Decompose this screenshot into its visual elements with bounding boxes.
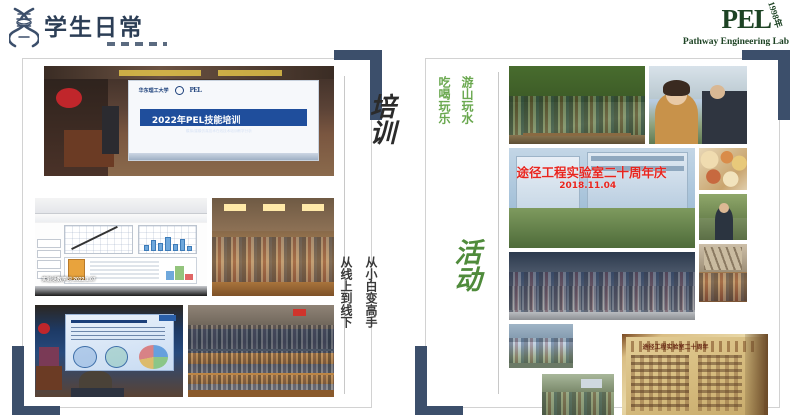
- slide-thumbnail-rail: [37, 239, 61, 279]
- training-column-skill: 从小白变高手: [362, 256, 379, 328]
- anniversary-banner-photo: 途径工程实验室二十周年庆 2018.11.04: [509, 148, 695, 248]
- scatter-chart-thumb: [64, 225, 133, 254]
- slide-pel-logo: PEL: [190, 86, 202, 94]
- title-underline-dash: [107, 42, 167, 46]
- slide-university-logo: 华东理工大学: [139, 87, 169, 94]
- celebration-jump-photo: [509, 324, 573, 368]
- activities-panel: 游山玩水 吃喝玩乐 活动 途径工程实验室二十周年庆 2018.11.04: [425, 58, 780, 408]
- page-title: 学生日常: [44, 8, 144, 42]
- presentation-slide: 华东理工大学 PEL 2022年PEL技能培训 模拟/建模仿真技术在线技术培训教…: [128, 80, 319, 160]
- walking-tour-photo: [542, 374, 614, 415]
- banquet-food-photo: [699, 148, 747, 190]
- calligraphy-training: 培训: [363, 93, 396, 145]
- slide-subtitle: 模拟/建模仿真技术在线技术培训教学分析: [186, 129, 252, 134]
- corner-bracket-top-right-h-2: [742, 50, 790, 60]
- calligraphy-activities: 活动: [447, 238, 482, 292]
- brand-subtitle: Pathway Engineering Lab: [683, 37, 789, 47]
- corner-bracket-bottom-left-h-2: [415, 406, 463, 415]
- slide-seal-icon: [175, 86, 184, 95]
- activity-column-leisure: 吃喝玩乐: [435, 76, 452, 124]
- page-header: 学生日常 PEL 1998年 Pathway Engineering Lab: [0, 0, 799, 52]
- indoor-gathering-photo: [699, 244, 747, 302]
- anniversary-date: 2018.11.04: [559, 181, 616, 191]
- pel-training-lecture-photo: 华东理工大学 PEL 2022年PEL技能培训 模拟/建模仿真技术在线技术培训教…: [44, 66, 334, 176]
- pel-brand-logo: PEL 1998年 Pathway Engineering Lab: [663, 6, 791, 50]
- corner-bracket-bottom-left-v: [12, 346, 24, 415]
- anniversary-title: 途径工程实验室二十周年庆: [516, 162, 666, 181]
- brand-mark: PEL: [721, 6, 771, 33]
- panel-divider: [344, 76, 345, 394]
- trainee-group-photo: [212, 198, 334, 296]
- bar-chart-thumb: [138, 225, 196, 254]
- outing-portrait-photo: [649, 66, 747, 144]
- screenshot-caption: 实验话数学习 2022.1.07: [42, 276, 96, 283]
- training-panel: 华东理工大学 PEL 2022年PEL技能培训 模拟/建模仿真技术在线技术培训教…: [22, 58, 372, 408]
- hiking-group-photo: [509, 66, 645, 144]
- memorial-scroll-photo: 途径工程实验室二十周年: [622, 334, 768, 415]
- corner-bracket-bottom-left-v-2: [415, 346, 427, 415]
- activity-column-travel: 游山玩水: [458, 76, 475, 124]
- slide-title: 2022年PEL技能培训: [152, 113, 241, 126]
- park-selfie-photo: [699, 194, 747, 240]
- seminar-presentation-photo: [35, 305, 183, 397]
- anniversary-group-photo: [509, 252, 695, 320]
- scroll-caption: 途径工程实验室二十周年: [642, 342, 708, 351]
- online-meeting-screenshot-photo: 实验话数学习 2022.1.07: [35, 198, 207, 296]
- classroom-audience-photo: [188, 305, 334, 397]
- corner-bracket-bottom-left-h: [12, 406, 60, 415]
- corner-bracket-top-right-h: [334, 50, 382, 60]
- corner-bracket-top-right-v-2: [778, 50, 790, 120]
- dna-helix-icon: [9, 6, 39, 48]
- activities-divider: [498, 72, 499, 394]
- training-column-mode: 从线上到线下: [337, 256, 354, 328]
